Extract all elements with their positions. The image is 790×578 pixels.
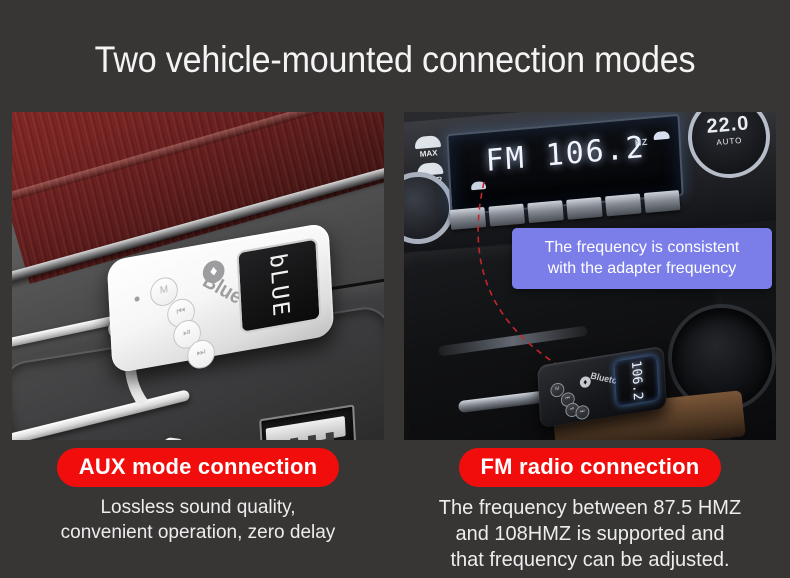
transmitter-display-screen: 106.2 [615,355,659,406]
preset-button[interactable] [527,200,564,223]
callout-line-2: with the adapter frequency [548,260,737,277]
front-defrost-indicator-icon [471,181,486,190]
right-caption-line-3: that frequency can be adjusted. [404,547,776,573]
left-caption-line-2: convenient operation, zero delay [12,520,384,545]
radio-frequency-display: FM 106.2 [485,130,647,179]
right-caption: FM radio connection The frequency betwee… [404,448,776,573]
left-caption: AUX mode connection Lossless sound quali… [12,448,384,545]
aux-mode-badge: AUX mode connection [57,448,340,487]
led-indicator-icon [134,296,139,302]
left-photo-panel: M ⏮ ⏯ ⏭ ♦ Bluetooth bLUE USB AUX [12,112,384,440]
right-photo-panel: MAX REAR OFF 22.0 AUTO FM 106.2 HZ [404,112,776,440]
rear-defrost-indicator-icon [653,131,669,140]
preset-button[interactable] [450,207,487,230]
usb-port-tongue [266,416,346,440]
left-caption-line-1: Lossless sound quality, [12,495,384,520]
preset-button[interactable] [644,190,681,213]
adapter-display-screen: bLUE [236,237,321,334]
promo-page: Two vehicle-mounted connection modes M ⏮… [0,0,790,578]
preset-button[interactable] [566,197,603,220]
defrost-max-label: MAX [419,148,437,159]
defrost-max-button[interactable]: MAX [407,134,449,159]
fm-radio-badge: FM radio connection [459,448,722,487]
defrost-icon [414,135,441,149]
transmitter-display-text: 106.2 [628,360,645,402]
adapter-display-text: bLUE [265,252,294,320]
preset-button[interactable] [605,193,642,216]
page-title: Two vehicle-mounted connection modes [32,38,759,82]
callout-line-1: The frequency is consistent [545,239,740,256]
frequency-callout-box: The frequency is consistent with the ada… [512,228,772,289]
left-caption-text: Lossless sound quality, convenient opera… [12,495,384,545]
next-track-button[interactable]: ⏭ [575,404,590,420]
frequency-unit-label: HZ [635,137,648,148]
right-caption-text: The frequency between 87.5 HMZ and 108HM… [404,495,776,573]
right-caption-line-2: and 108HMZ is supported and [404,521,776,547]
preset-button[interactable] [488,204,525,227]
right-caption-line-1: The frequency between 87.5 HMZ [404,495,776,521]
